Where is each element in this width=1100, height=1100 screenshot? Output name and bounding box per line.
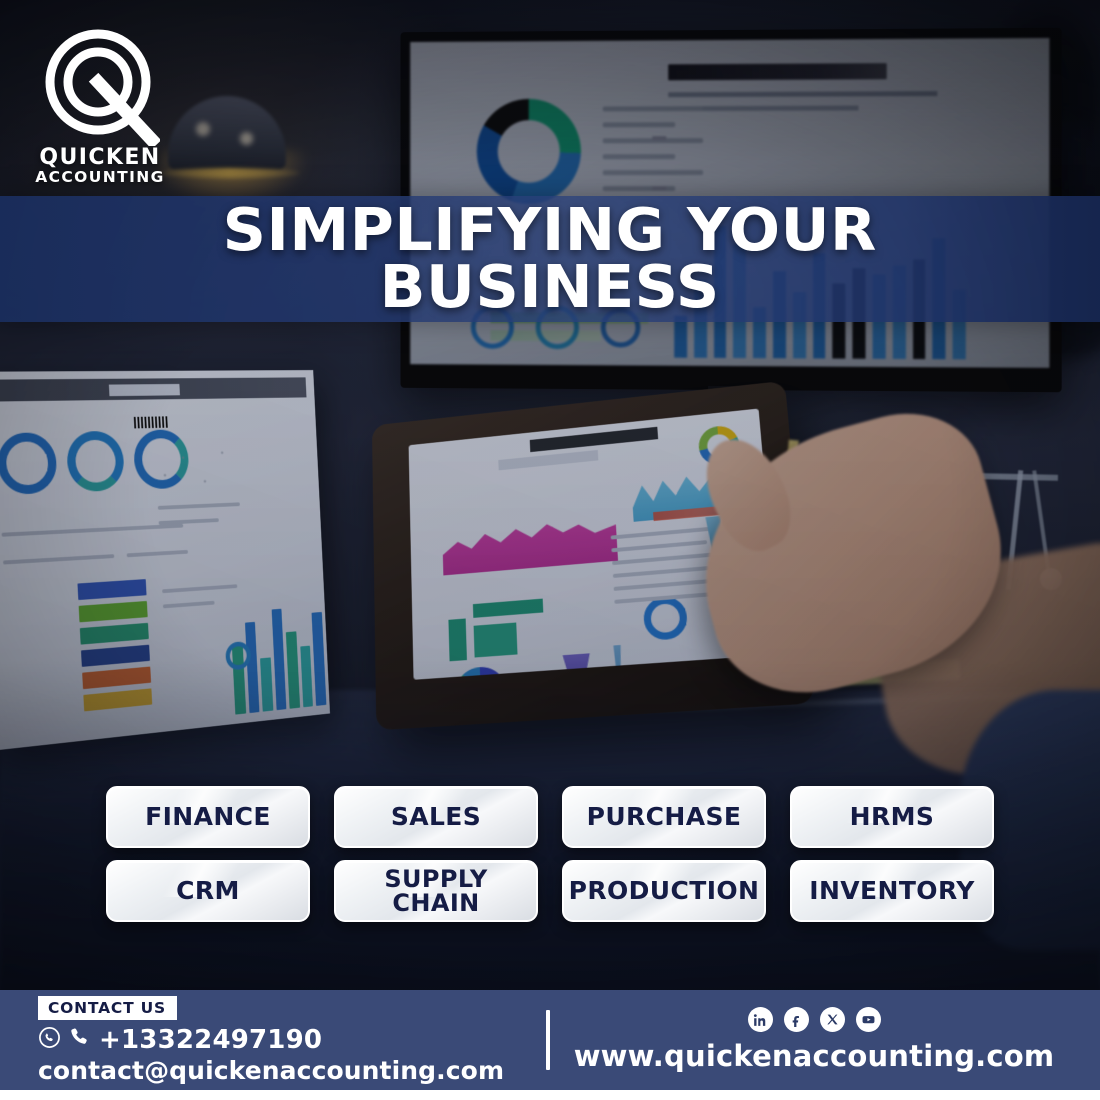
- lamp-rim-glow: [158, 168, 300, 178]
- service-button-label: INVENTORY: [809, 878, 974, 904]
- report-donut-chart: [0, 432, 58, 495]
- service-button-supply-chain[interactable]: SUPPLYCHAIN: [334, 860, 538, 922]
- service-button-inventory[interactable]: INVENTORY: [790, 860, 994, 922]
- facebook-icon[interactable]: [784, 1007, 809, 1032]
- report-rule: [127, 550, 188, 557]
- contact-us-badge: CONTACT US: [38, 996, 177, 1020]
- brand-name-line2: ACCOUNTING: [34, 169, 166, 186]
- website-url[interactable]: www.quickenaccounting.com: [556, 1039, 1072, 1073]
- service-button-hrms[interactable]: HRMS: [790, 786, 994, 848]
- phone-number[interactable]: +13322497190: [99, 1025, 322, 1055]
- linkedin-icon[interactable]: [748, 1007, 773, 1032]
- service-button-label: PRODUCTION: [569, 878, 760, 904]
- service-button-label: PURCHASE: [587, 804, 742, 830]
- lamp-bulb: [240, 132, 253, 145]
- tablet-funnel-chart: [611, 645, 626, 680]
- tablet-search-field: [498, 450, 598, 470]
- service-button-sales[interactable]: SALES: [334, 786, 538, 848]
- service-button-grid: FINANCESALESPURCHASEHRMSCRMSUPPLYCHAINPR…: [106, 786, 996, 922]
- bottom-strip: [0, 1090, 1100, 1100]
- whatsapp-icon[interactable]: [38, 1026, 61, 1054]
- tablet-area-chart-magenta: [442, 506, 618, 575]
- phone-row: +13322497190: [38, 1025, 520, 1055]
- report-donut-chart: [66, 431, 125, 493]
- report-rule: [159, 518, 219, 525]
- brand-logo: QUICKEN ACCOUNTING: [34, 28, 166, 186]
- social-links: [556, 1007, 1072, 1032]
- report-scatter-chart: [153, 435, 250, 500]
- service-button-label: CRM: [176, 878, 240, 904]
- email-address[interactable]: contact@quickenaccounting.com: [38, 1056, 520, 1085]
- report-rule: [163, 601, 215, 609]
- headline-line2: BUSINESS: [223, 259, 877, 316]
- brand-name-line1: QUICKEN: [34, 146, 166, 169]
- service-button-finance[interactable]: FINANCE: [106, 786, 310, 848]
- phone-icon[interactable]: [68, 1025, 92, 1054]
- service-button-label: SUPPLYCHAIN: [384, 867, 487, 915]
- service-button-label: SALES: [391, 804, 481, 830]
- tablet-funnel-chart: [559, 653, 595, 680]
- headline-text: SIMPLIFYING YOUR BUSINESS: [182, 202, 918, 315]
- report-rule: [162, 584, 237, 593]
- tablet-bar-green: [474, 623, 518, 658]
- report-category-tags: [77, 579, 152, 717]
- x-twitter-icon[interactable]: [820, 1007, 845, 1032]
- footer-web-block: www.quickenaccounting.com: [556, 1007, 1100, 1073]
- footer-contact-block: CONTACT US +13322497190 contact@quickena…: [0, 996, 520, 1085]
- report-barcode: [134, 416, 168, 428]
- service-button-crm[interactable]: CRM: [106, 860, 310, 922]
- service-button-purchase[interactable]: PURCHASE: [562, 786, 766, 848]
- tablet-pie-chart: [454, 665, 509, 679]
- footer-contact-bar: CONTACT US +13322497190 contact@quickena…: [0, 990, 1100, 1090]
- service-button-label: HRMS: [850, 804, 935, 830]
- printed-report-sheet: [0, 370, 330, 751]
- quicken-q-monogram-icon: [40, 28, 160, 146]
- report-rule: [158, 502, 240, 509]
- footer-divider: [546, 1010, 550, 1070]
- promotional-poster: QUICKEN ACCOUNTING SIMPLIFYING YOUR BUSI…: [0, 0, 1100, 1100]
- tablet-bar-green: [448, 618, 467, 661]
- report-rule: [3, 554, 114, 564]
- lamp-bulb: [196, 122, 210, 136]
- tablet-bar-green: [473, 599, 543, 618]
- youtube-icon[interactable]: [856, 1007, 881, 1032]
- report-header-field: [109, 384, 180, 396]
- service-button-production[interactable]: PRODUCTION: [562, 860, 766, 922]
- tablet-topbar: [530, 427, 658, 452]
- service-button-label: FINANCE: [145, 804, 271, 830]
- headline-banner: SIMPLIFYING YOUR BUSINESS: [0, 196, 1100, 322]
- report-rule: [2, 524, 184, 537]
- brand-logo-text: QUICKEN ACCOUNTING: [34, 146, 166, 186]
